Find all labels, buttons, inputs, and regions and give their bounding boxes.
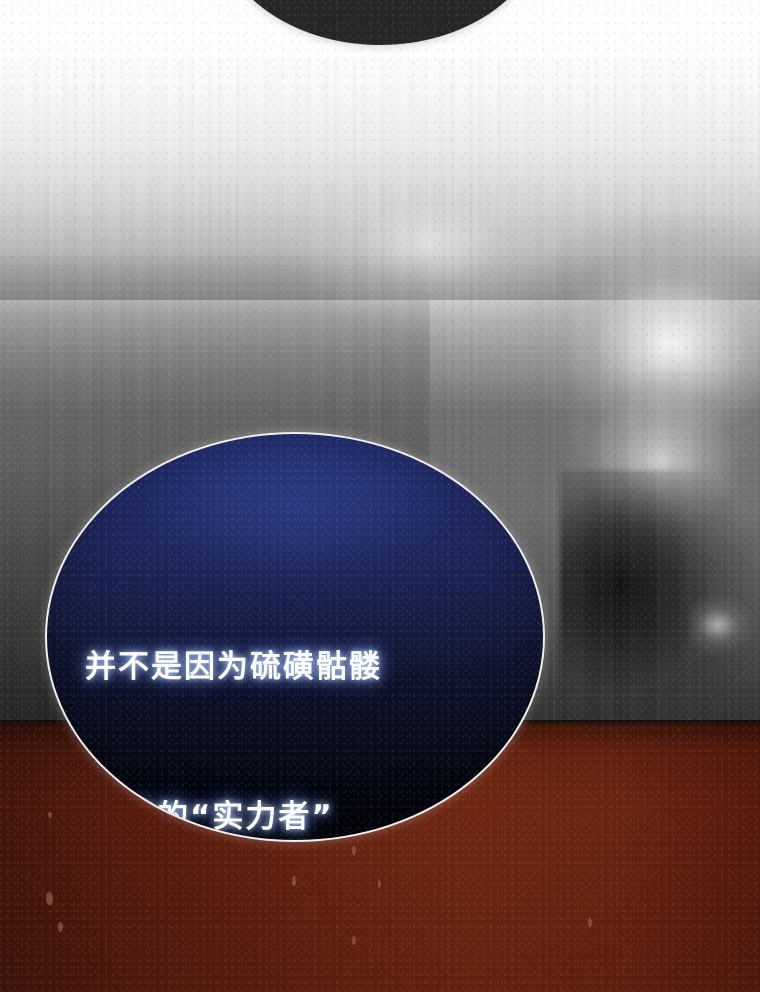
ground-speck [352,936,356,945]
ground-speck [588,918,592,927]
speech-bubble[interactable]: 并不是因为硫磺骷髅 派来的“实力者” 不够强大， [45,432,545,842]
ground-speck [352,846,356,855]
ground-speck [292,876,296,886]
speech-line-1: 并不是因为硫磺骷髅 [85,642,515,692]
speech-line-2: 派来的“实力者” [85,792,515,842]
comic-panel: 并不是因为硫磺骷髅 派来的“实力者” 不够强大， [0,0,760,992]
ground-speck [58,922,63,932]
ground-speck [48,812,52,818]
ground-speck [378,880,381,888]
ground-speck [46,892,53,905]
speech-bubble-text: 并不是因为硫磺骷髅 派来的“实力者” 不够强大， [85,542,515,842]
